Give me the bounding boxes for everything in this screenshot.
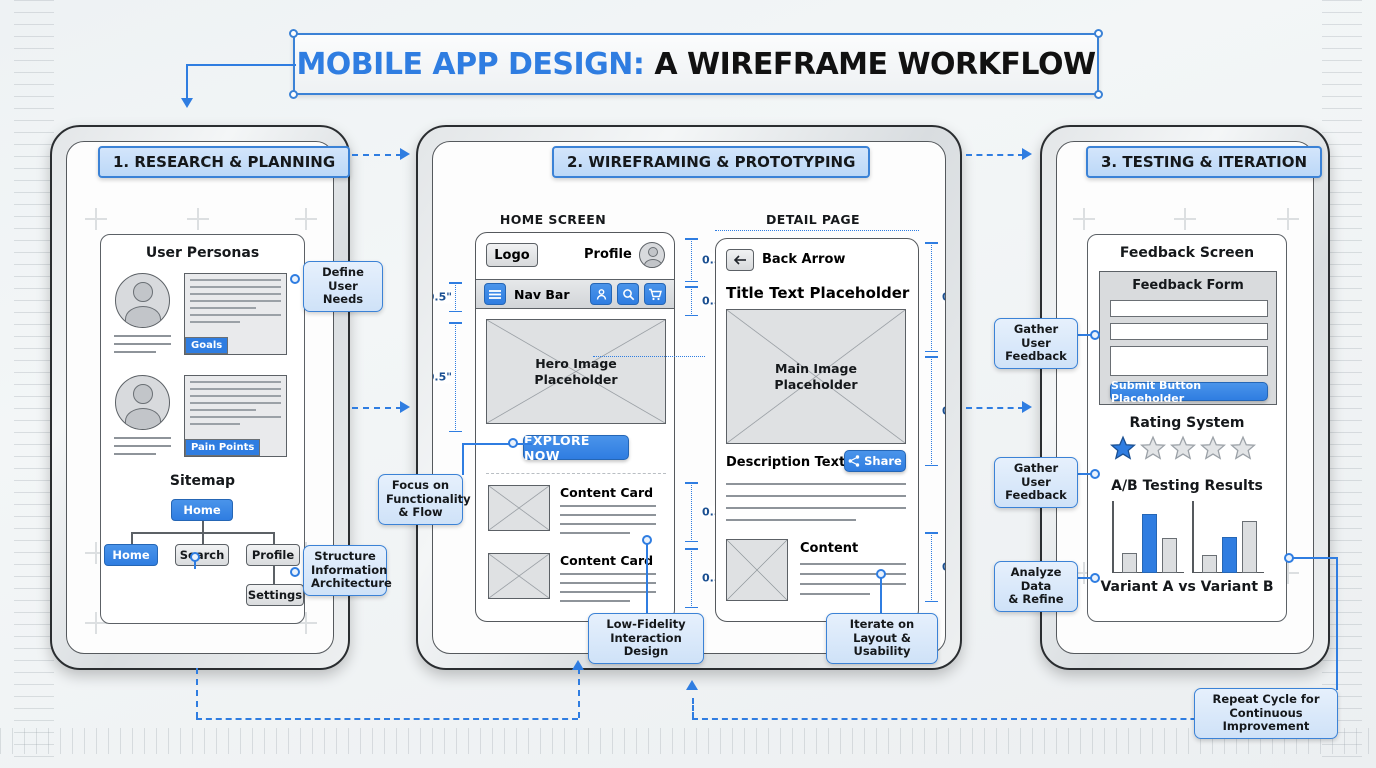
callout-define-user-needs[interactable]: Define User Needs bbox=[303, 261, 383, 312]
step-chip-testing[interactable]: 3. TESTING & ITERATION bbox=[1086, 146, 1322, 178]
callout-focus-functionality[interactable]: Focus on Functionality & Flow bbox=[378, 474, 463, 525]
step-chip-wireframing[interactable]: 2. WIREFRAMING & PROTOTYPING bbox=[552, 146, 870, 178]
callout-anchor-dot[interactable] bbox=[290, 567, 300, 577]
callout-anchor-dot[interactable] bbox=[190, 552, 200, 562]
callout-anchor-dot[interactable] bbox=[642, 535, 652, 545]
title-leader-h bbox=[186, 64, 296, 66]
callout-anchor-dot[interactable] bbox=[1090, 469, 1100, 479]
callout-leader bbox=[462, 443, 532, 445]
callout-anchor-dot[interactable] bbox=[876, 569, 886, 579]
callout-leader bbox=[1336, 557, 1338, 690]
title-leader-v bbox=[186, 64, 188, 100]
callout-anchor-dot[interactable] bbox=[508, 438, 518, 448]
callout-gather-feedback-2[interactable]: Gather User Feedback bbox=[994, 457, 1078, 508]
callout-analyze-data[interactable]: Analyze Data & Refine bbox=[994, 561, 1078, 612]
callout-anchor-dot[interactable] bbox=[1090, 330, 1100, 340]
callout-gather-feedback-1[interactable]: Gather User Feedback bbox=[994, 318, 1078, 369]
callout-leader bbox=[1292, 557, 1338, 559]
callout-anchor-dot[interactable] bbox=[1090, 573, 1100, 583]
callout-leader bbox=[462, 443, 464, 475]
callout-anchor-dot[interactable] bbox=[1284, 553, 1294, 563]
step-chip-research[interactable]: 1. RESEARCH & PLANNING bbox=[98, 146, 350, 178]
callout-repeat-cycle[interactable]: Repeat Cycle for Continuous Improvement bbox=[1194, 688, 1338, 739]
callout-leader bbox=[646, 540, 648, 614]
callout-low-fidelity[interactable]: Low-Fidelity Interaction Design bbox=[588, 613, 704, 664]
callout-anchor-dot[interactable] bbox=[290, 274, 300, 284]
callout-structure-ia[interactable]: Structure Information Architecture bbox=[303, 545, 387, 596]
callout-iterate-layout[interactable]: Iterate on Layout & Usability bbox=[826, 613, 938, 664]
callout-leader bbox=[880, 574, 882, 614]
